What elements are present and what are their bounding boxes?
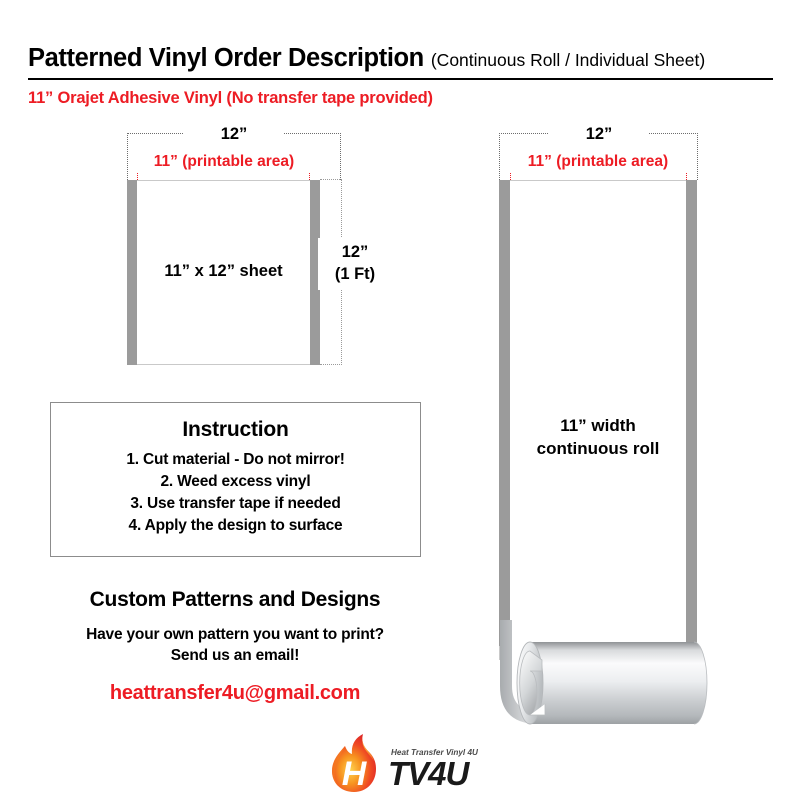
roll-body-label: 11” width continuous roll xyxy=(510,415,686,460)
logo-flame-letter: H xyxy=(342,755,368,793)
brand-logo: H Heat Transfer Vinyl 4U TV4U xyxy=(330,733,490,795)
roll-total-width-label: 12” xyxy=(549,124,649,145)
roll-left-margin-strip xyxy=(499,180,510,646)
roll-printable-width-label: 11” (printable area) xyxy=(504,152,692,172)
roll-right-margin-strip xyxy=(686,180,697,672)
roll-body-label-line1: 11” width xyxy=(510,415,686,438)
roll-body-label-line2: continuous roll xyxy=(510,438,686,461)
roll-cylinder-graphic xyxy=(470,620,730,730)
continuous-roll-diagram: 12” 11” (printable area) 11” width conti… xyxy=(0,0,801,800)
logo-wordmark: TV4U xyxy=(388,755,471,792)
